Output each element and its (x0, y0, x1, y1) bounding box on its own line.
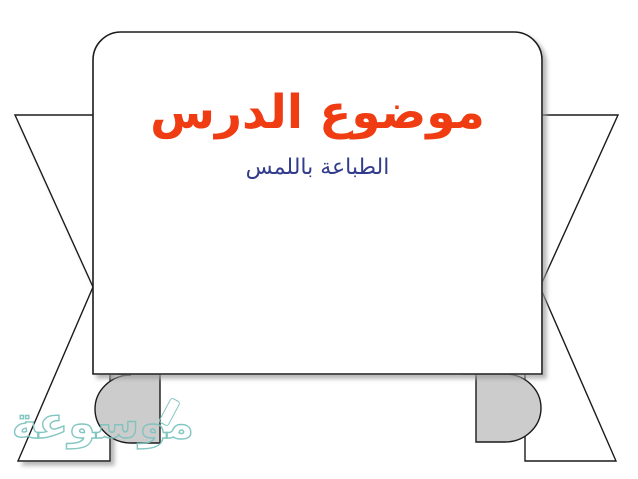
scroll-curl-bottom-right (462, 374, 541, 442)
slide-canvas: موضوع الدرس الطباعة باللمس موسوعة (0, 0, 638, 479)
scroll-banner-graphic (0, 0, 638, 479)
banner-main-panel (93, 32, 542, 374)
